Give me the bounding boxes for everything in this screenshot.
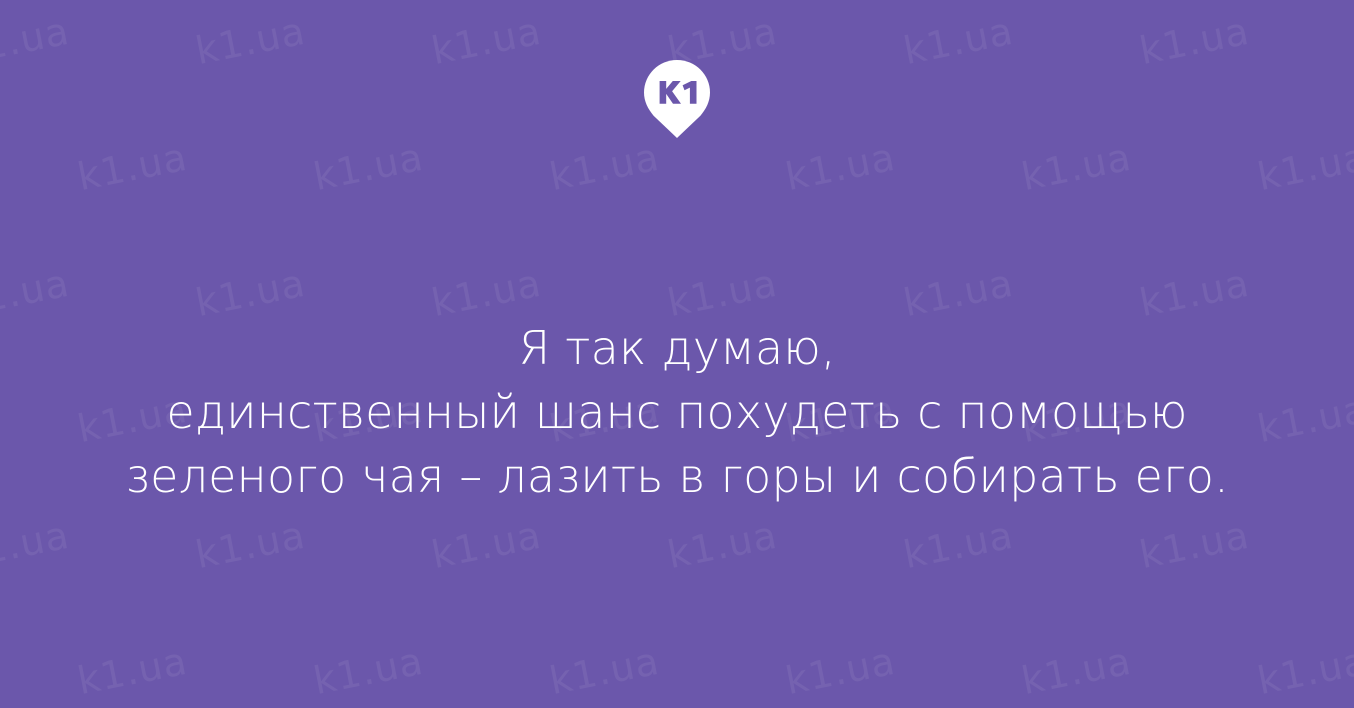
watermark-text: k1.ua [664,237,904,325]
quote-text: Я так думаю, единственный шанс похудеть … [0,316,1354,508]
watermark-text: k1.ua [1136,237,1354,325]
watermark-text: k1.ua [310,615,550,703]
logo-container [0,60,1354,138]
watermark-text: k1.ua [900,237,1140,325]
watermark-text: k1.ua [0,615,78,703]
watermark-text: k1.ua [782,615,1022,703]
watermark-text: k1.ua [74,615,314,703]
watermark-text: k1.ua [1018,615,1258,703]
k1-pin-logo-icon [644,60,710,138]
watermark-text: k1.ua [1254,615,1354,703]
quote-card: k1.ua k1.ua k1.ua k1.ua k1.ua k1.ua k1.u… [0,0,1354,708]
watermark-text: k1.ua [428,237,668,325]
watermark-text: k1.ua [0,237,196,325]
watermark-row: k1.ua k1.ua k1.ua k1.ua k1.ua k1.ua k1.u… [0,596,1354,708]
quote-line-3: зеленого чая – лазить в горы и собирать … [40,444,1314,508]
quote-line-1: Я так думаю, [40,316,1314,380]
quote-line-2: единственный шанс похудеть с помощью [40,380,1314,444]
watermark-text: k1.ua [546,615,786,703]
watermark-text: k1.ua [192,237,432,325]
